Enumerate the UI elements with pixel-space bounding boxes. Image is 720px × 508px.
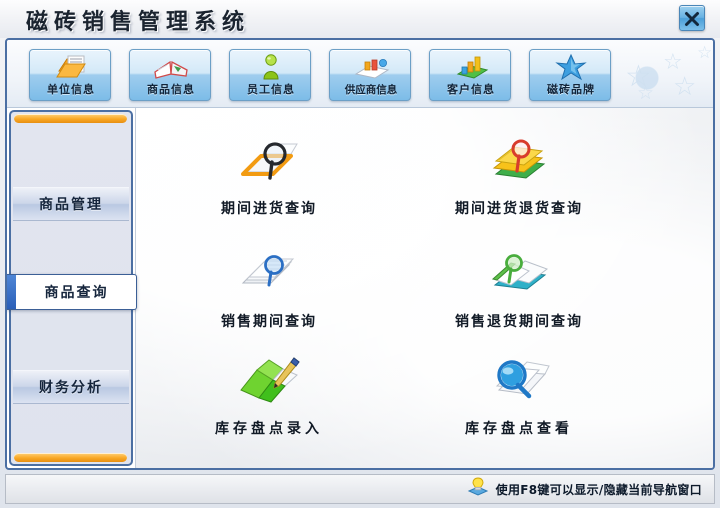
- tile-label: 期间进货退货查询: [424, 198, 614, 218]
- toolbar-button-unit-info[interactable]: 单位信息: [29, 49, 111, 101]
- sidebar-item-product-query[interactable]: 商品查询: [7, 274, 137, 310]
- toolbar-button-customer-info[interactable]: 客户信息: [429, 49, 511, 101]
- decorative-star-icon: ☆: [697, 45, 712, 62]
- tile-inventory-count-entry[interactable]: 库存盘点录入: [174, 348, 364, 456]
- toolbar-button-label: 供应商信息: [330, 82, 412, 97]
- open-book-icon: [130, 53, 212, 81]
- sidebar-item-label: 财务分析: [39, 377, 103, 397]
- title-bar: 磁砖销售管理系统: [0, 0, 720, 38]
- book-blue-magnifier-icon: [424, 348, 614, 418]
- tile-sales-return-period-query[interactable]: 销售退货期间查询: [424, 241, 614, 349]
- tile-label: 期间进货查询: [174, 198, 364, 218]
- toolbar-button-tile-brand[interactable]: 磁砖品牌: [529, 49, 611, 101]
- sidebar-item-label: 商品管理: [39, 194, 103, 214]
- sidebar-bottom-accent: [14, 453, 127, 462]
- white-book-blue-magnifier-icon: [174, 241, 364, 311]
- lightbulb-icon: [467, 476, 489, 502]
- decorative-star-icon: ☆: [637, 84, 654, 103]
- star-icon: [530, 53, 612, 81]
- decorative-star-icon: ☆: [625, 62, 652, 92]
- decorative-star-icon: ☆: [673, 74, 696, 100]
- tile-label: 销售期间查询: [174, 311, 364, 331]
- body-area: 商品管理 商品查询 财务分析: [7, 108, 713, 468]
- toolbar-button-product-info[interactable]: 商品信息: [129, 49, 211, 101]
- person-icon: [230, 53, 312, 81]
- sidebar-item-product-management[interactable]: 商品管理: [13, 187, 129, 221]
- status-hint-text: 使用F8键可以显示/隐藏当前导航窗口: [496, 481, 702, 498]
- green-books-magnifier-icon: [424, 241, 614, 311]
- tile-sales-period-query[interactable]: 销售期间查询: [174, 241, 364, 349]
- status-bar: 使用F8键可以显示/隐藏当前导航窗口: [5, 474, 715, 504]
- green-book-pen-icon: [174, 348, 364, 418]
- toolbar-button-label: 商品信息: [130, 81, 212, 97]
- close-x-icon: [683, 10, 701, 28]
- tile-period-purchase-query[interactable]: 期间进货查询: [174, 128, 364, 236]
- tile-period-purchase-return-query[interactable]: 期间进货退货查询: [424, 128, 614, 236]
- content-panel: 期间进货查询: [135, 108, 713, 468]
- tile-label: 库存盘点查看: [424, 418, 614, 438]
- yellow-books-magnifier-icon: [424, 128, 614, 198]
- toolbar-button-label: 单位信息: [30, 81, 112, 97]
- app-window: ☆ ☆ ☆ ☆ ☆ 单位信息: [5, 38, 715, 470]
- toolbar-button-supplier-info[interactable]: 供应商信息: [329, 49, 411, 101]
- sidebar-item-financial-analysis[interactable]: 财务分析: [13, 370, 129, 404]
- chart-people-icon: [430, 53, 512, 81]
- tile-inventory-count-view[interactable]: 库存盘点查看: [424, 348, 614, 456]
- delivery-icon: [330, 53, 412, 81]
- toolbar-button-label: 客户信息: [430, 81, 512, 97]
- sidebar-item-label: 商品查询: [45, 282, 109, 302]
- toolbar: ☆ ☆ ☆ ☆ ☆ 单位信息: [7, 40, 713, 108]
- toolbar-button-label: 员工信息: [230, 81, 312, 97]
- toolbar-button-employee-info[interactable]: 员工信息: [229, 49, 311, 101]
- sidebar-top-accent: [14, 114, 127, 123]
- toolbar-button-label: 磁砖品牌: [530, 81, 612, 97]
- tile-label: 销售退货期间查询: [424, 311, 614, 331]
- page-title: 磁砖销售管理系统: [26, 4, 250, 36]
- close-button[interactable]: [679, 5, 705, 31]
- sidebar-nav: 商品管理 商品查询 财务分析: [9, 110, 133, 466]
- orange-book-magnifier-icon: [174, 128, 364, 198]
- tile-label: 库存盘点录入: [174, 418, 364, 438]
- folder-document-icon: [30, 53, 112, 81]
- decorative-star-icon: ☆: [663, 52, 683, 74]
